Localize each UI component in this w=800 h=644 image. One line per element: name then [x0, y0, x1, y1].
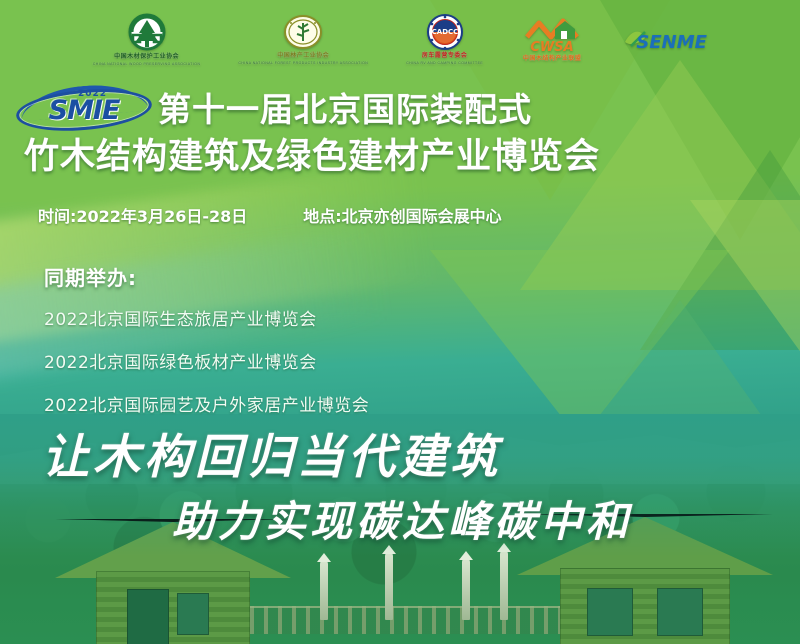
event-venue: 地点:北京亦创国际会展中心: [303, 203, 501, 227]
exhibition-poster: 中国木材保护工业协会 CHINA NATIONAL WOOD PRESERVIN…: [0, 0, 800, 644]
sponsor-label-cn: 中国木结构产业联盟: [523, 56, 582, 63]
slogan-line2: 助力实现碳达峰碳中和: [172, 488, 632, 549]
list-item: 2022北京国际绿色板材产业博览会: [44, 348, 369, 373]
patio-umbrella: [385, 552, 393, 620]
smie-logo-year: 2022: [78, 89, 107, 99]
china-wood-protection-industry-association-logo[interactable]: 中国木材保护工业协会 CHINA NATIONAL WOOD PRESERVIN…: [93, 13, 201, 66]
sponsor-logo-strip: 中国木材保护工业协会 CHINA NATIONAL WOOD PRESERVIN…: [0, 6, 800, 72]
bamboo-seal-icon: [282, 14, 324, 52]
smie-logo[interactable]: 2022 SMIE: [16, 88, 152, 132]
event-meta: 时间:2022年3月26日-28日 地点:北京亦创国际会展中心: [38, 203, 502, 227]
bamboo-association-logo[interactable]: 中国林产工业协会 CHINA NATIONAL FOREST PRODUCTS …: [238, 14, 368, 65]
tree-shield-icon: [124, 13, 170, 53]
sponsor-label-en: CHINA NATIONAL WOOD PRESERVING ASSOCIATI…: [93, 62, 201, 66]
list-item: 2022北京国际园艺及户外家居产业博览会: [44, 391, 369, 416]
patio-umbrella: [462, 558, 470, 620]
page-title-line1: 第十一届北京国际装配式: [158, 89, 532, 131]
event-date: 时间:2022年3月26日-28日: [38, 203, 247, 227]
cadcc-rv-camping-committee-logo[interactable]: CADCC 房车露营专委会 CHINA RV AND CAMPING COMMI…: [406, 14, 483, 65]
leaf-sprout-icon: SENMEI: [621, 24, 707, 54]
sponsor-label-cn: 房车露营专委会: [422, 53, 468, 60]
patio-umbrella: [320, 560, 328, 620]
title-line1-row: 2022 SMIE 第十一届北京国际装配式: [16, 88, 784, 132]
concurrent-events-section: 同期举办: 2022北京国际生态旅居产业博览会 2022北京国际绿色板材产业博览…: [44, 262, 369, 434]
slogan-line1: 让木构回归当代建筑: [42, 418, 501, 487]
gear-seal-icon: CADCC: [424, 14, 466, 52]
sponsor-label-en: CHINA RV AND CAMPING COMMITTEE: [406, 61, 483, 65]
sponsor-label-cn: 中国木材保护工业协会: [114, 54, 179, 61]
concurrent-events-list: 2022北京国际生态旅居产业博览会 2022北京国际绿色板材产业博览会 2022…: [44, 305, 369, 416]
list-item: 2022北京国际生态旅居产业博览会: [44, 305, 369, 330]
svg-text:CADCC: CADCC: [431, 28, 458, 36]
patio-umbrella: [500, 550, 508, 620]
concurrent-events-heading: 同期举办:: [44, 262, 369, 291]
sponsor-label-cn: 中国林产工业协会: [277, 53, 329, 60]
sponsor-label-en: CHINA NATIONAL FOREST PRODUCTS INDUSTRY …: [238, 61, 368, 65]
title-block: 2022 SMIE 第十一届北京国际装配式 竹木结构建筑及绿色建材产业博览会: [0, 88, 800, 180]
smie-logo-text: SMIE: [49, 95, 120, 126]
senmei-logo[interactable]: SENMEI: [621, 24, 707, 54]
page-title-line2: 竹木结构建筑及绿色建材产业博览会: [16, 134, 784, 180]
svg-text:CWSA: CWSA: [530, 40, 573, 55]
cwsa-wood-structure-alliance-logo[interactable]: CWSA 中国木结构产业联盟: [521, 15, 583, 63]
svg-text:SENMEI: SENMEI: [637, 32, 708, 53]
house-roof-icon: CWSA: [521, 15, 583, 55]
